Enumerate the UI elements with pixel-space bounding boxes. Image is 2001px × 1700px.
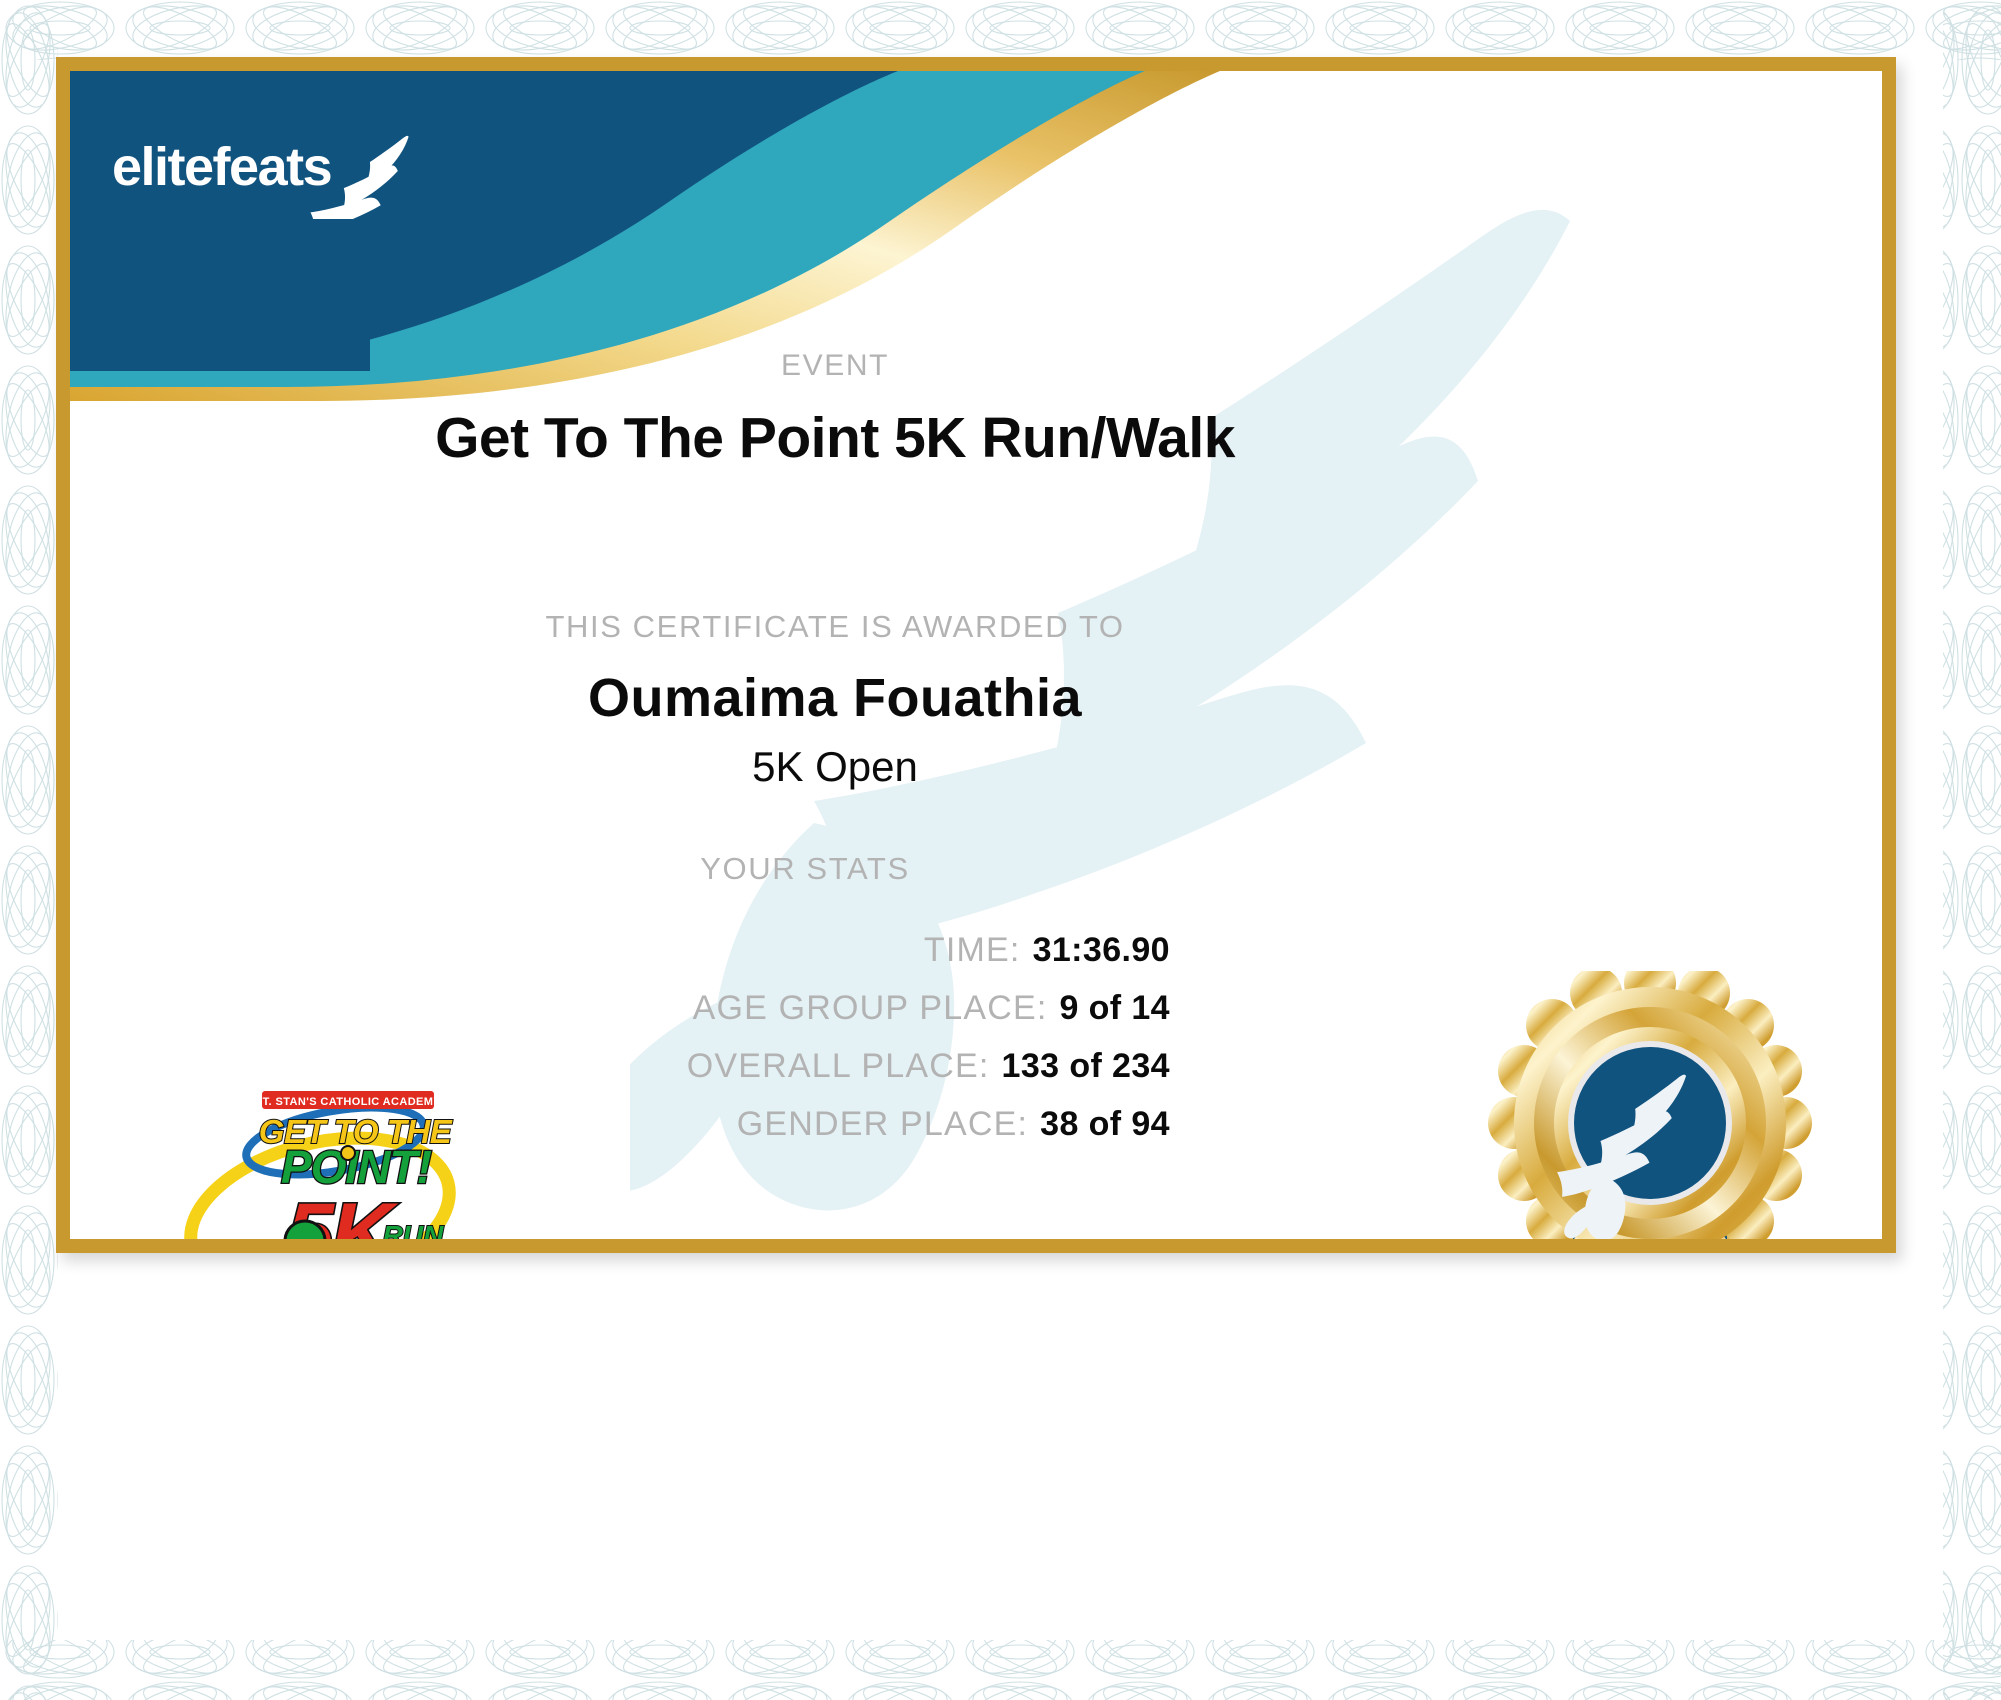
stat-key: OVERALL PLACE: xyxy=(687,1047,990,1086)
medal-year: 2023 xyxy=(1611,1241,1688,1253)
stat-row-age-group-place: AGE GROUP PLACE: 9 of 14 xyxy=(70,989,1170,1047)
presenter-text: ST. STAN'S CATHOLIC ACADEMY xyxy=(255,1096,441,1108)
awarded-to-label: THIS CERTIFICATE IS AWARDED TO xyxy=(70,609,1600,645)
stat-row-time: TIME: 31:36.90 xyxy=(70,931,1170,989)
division-label: 5K Open xyxy=(70,743,1600,791)
certificate-page: elitefeats EVENT Get To The Point 5K Run… xyxy=(0,0,2001,1700)
stat-key: AGE GROUP PLACE: xyxy=(693,989,1048,1028)
event-label: EVENT xyxy=(70,349,1600,383)
point-dot xyxy=(341,1146,355,1160)
five-k-green-dot xyxy=(285,1221,325,1253)
stat-value: 133 of 234 xyxy=(1002,1047,1170,1086)
finisher-medal-badge: 2023 xyxy=(1485,971,1815,1253)
recipient-name: Oumaima Fouathia xyxy=(70,667,1600,729)
certificate-content: EVENT Get To The Point 5K Run/Walk THIS … xyxy=(70,71,1882,1239)
stat-value: 9 of 14 xyxy=(1059,989,1170,1028)
logo-line-run: RUN xyxy=(383,1220,444,1251)
event-title: Get To The Point 5K Run/Walk xyxy=(70,405,1600,471)
race-event-logo: ST. STAN'S CATHOLIC ACADEMY GET TO THE P… xyxy=(170,1083,470,1253)
your-stats-label: YOUR STATS xyxy=(70,851,1540,887)
stat-value: 38 of 94 xyxy=(1040,1105,1170,1144)
stat-key: GENDER PLACE: xyxy=(737,1105,1028,1144)
stat-key: TIME: xyxy=(924,931,1021,970)
certificate-card: elitefeats EVENT Get To The Point 5K Run… xyxy=(56,57,1896,1253)
stat-value: 31:36.90 xyxy=(1033,931,1170,970)
